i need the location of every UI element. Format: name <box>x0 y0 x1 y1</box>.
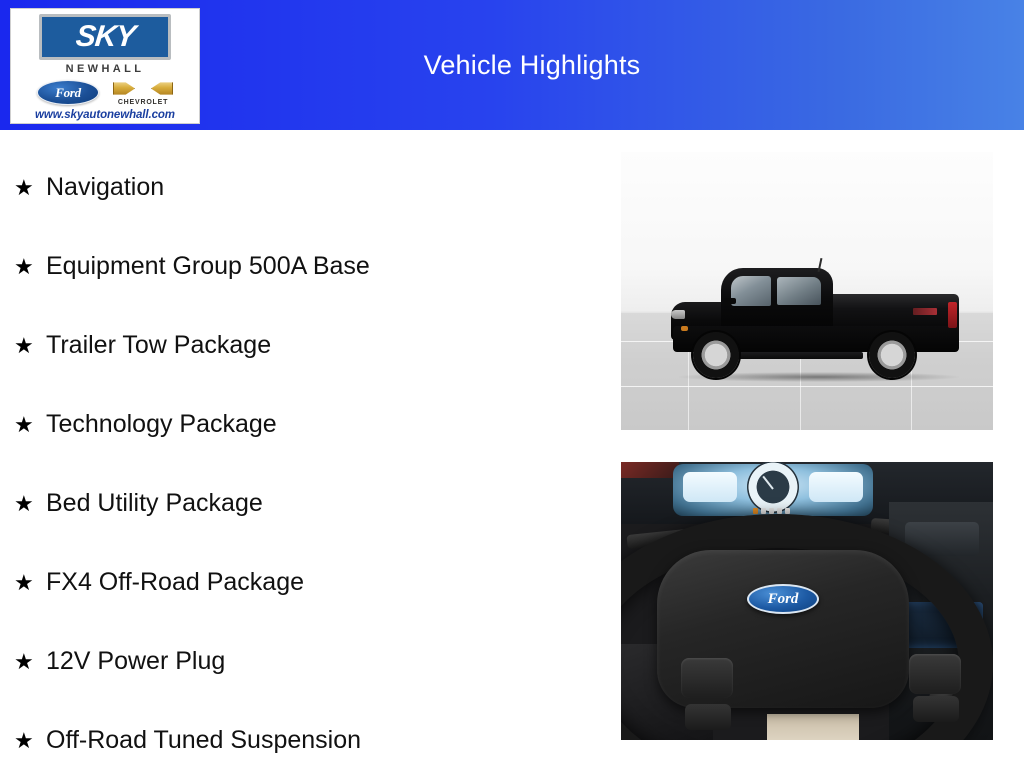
dealer-website-url[interactable]: www.skyautonewhall.com <box>35 109 175 121</box>
feature-label: Equipment Group 500A Base <box>46 253 370 281</box>
brand-badges-row: Ford CHEVROLET <box>37 79 173 106</box>
steering-wheel-hub <box>657 550 909 708</box>
steering-control-left <box>681 658 733 698</box>
star-bullet-icon: ★ <box>14 335 46 357</box>
feature-label: Off-Road Tuned Suspension <box>46 727 361 755</box>
instrument-cluster <box>673 464 873 516</box>
bowtie-shape <box>113 79 173 98</box>
sky-logo-plate: SKY <box>39 14 171 60</box>
ford-badge-text: Ford <box>55 85 81 101</box>
list-item: ★ Bed Utility Package <box>14 464 594 543</box>
chevrolet-bowtie-icon: CHEVROLET <box>113 79 173 106</box>
feature-label: Technology Package <box>46 411 277 439</box>
list-item: ★ Equipment Group 500A Base <box>14 227 594 306</box>
star-bullet-icon: ★ <box>14 572 46 594</box>
list-item: ★ Technology Package <box>14 385 594 464</box>
list-item: ★ FX4 Off-Road Package <box>14 543 594 622</box>
ford-oval-icon: Ford <box>37 80 99 105</box>
interior-scene: Ford <box>621 462 993 740</box>
list-item: ★ 12V Power Plug <box>14 622 594 701</box>
vehicle-highlights-list: ★ Navigation ★ Equipment Group 500A Base… <box>14 148 594 768</box>
pickup-truck-illustration <box>669 260 959 380</box>
star-bullet-icon: ★ <box>14 256 46 278</box>
feature-label: Navigation <box>46 174 164 202</box>
sky-brand-text: SKY <box>74 22 136 52</box>
star-bullet-icon: ★ <box>14 414 46 436</box>
star-bullet-icon: ★ <box>14 730 46 752</box>
bowtie-right-wing <box>151 79 173 98</box>
list-item: ★ Navigation <box>14 148 594 227</box>
studio-backdrop <box>621 152 993 430</box>
steering-control-right <box>909 654 961 694</box>
vehicle-highlights-slide: Vehicle Highlights SKY NEWHALL Ford CHEV… <box>0 0 1024 768</box>
ford-horn-badge-text: Ford <box>768 591 799 608</box>
steering-control-left-lower <box>685 704 731 730</box>
steering-control-right-lower <box>913 696 959 722</box>
ford-logo-icon: Ford <box>747 584 819 614</box>
list-item: ★ Trailer Tow Package <box>14 306 594 385</box>
star-bullet-icon: ★ <box>14 493 46 515</box>
feature-label: FX4 Off-Road Package <box>46 569 304 597</box>
star-bullet-icon: ★ <box>14 651 46 673</box>
dealer-location-text: NEWHALL <box>66 63 145 75</box>
speedometer-gauge <box>747 462 799 513</box>
chevrolet-badge-text: CHEVROLET <box>118 99 168 106</box>
vehicle-exterior-photo[interactable] <box>621 152 993 430</box>
feature-label: Trailer Tow Package <box>46 332 271 360</box>
bowtie-left-wing <box>113 79 135 98</box>
dealer-logo[interactable]: SKY NEWHALL Ford CHEVROLET www.skyautone… <box>10 8 200 124</box>
star-bullet-icon: ★ <box>14 177 46 199</box>
vehicle-interior-photo[interactable]: Ford <box>621 462 993 740</box>
list-item: ★ Off-Road Tuned Suspension <box>14 701 594 768</box>
feature-label: 12V Power Plug <box>46 648 225 676</box>
feature-label: Bed Utility Package <box>46 490 263 518</box>
